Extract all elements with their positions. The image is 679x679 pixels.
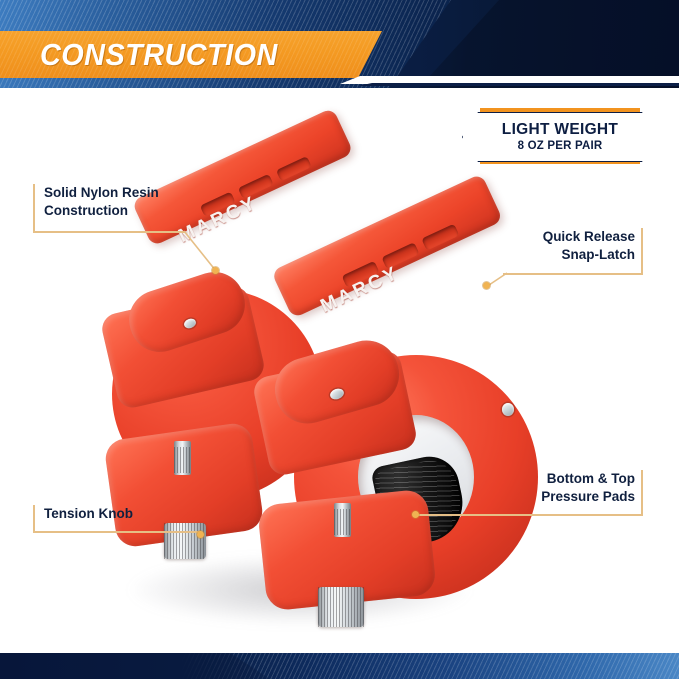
callout-quick-release-snap-latch: Quick Release Snap-Latch	[470, 228, 635, 264]
footer-banner	[0, 653, 679, 679]
leader-stub-pressure-pads	[641, 470, 643, 515]
leader-stub-tension-knob	[33, 505, 35, 532]
leader-dot-solid-nylon-resin	[212, 267, 219, 274]
leader-stub-quick-release	[641, 228, 643, 274]
collar-front: MARCY	[248, 247, 558, 667]
callout-solid-nylon-resin-line2: Construction	[44, 202, 159, 220]
collar-front-screw-ribs	[334, 509, 351, 535]
leader-dot-pressure-pads	[412, 511, 419, 518]
leader-stub-solid-nylon-resin	[33, 184, 35, 232]
callout-solid-nylon-resin: Solid Nylon Resin Construction	[33, 184, 159, 220]
badge-title: LIGHT WEIGHT	[462, 121, 658, 139]
collar-front-lever-slot-3	[421, 224, 459, 251]
leader-line-quick-release	[503, 273, 643, 275]
collar-back-screw-ribs	[174, 447, 191, 473]
badge-subtitle: 8 OZ PER PAIR	[462, 140, 658, 152]
leader-dot-quick-release	[483, 282, 490, 289]
callout-pressure-pads-line1: Bottom & Top	[470, 470, 635, 488]
page-title: CONSTRUCTION	[40, 31, 278, 78]
leader-line-pressure-pads	[417, 514, 643, 516]
collar-front-knob-ribs	[318, 587, 364, 627]
callout-solid-nylon-resin-line1: Solid Nylon Resin	[44, 184, 159, 202]
collar-back-lever-slot-3	[276, 156, 312, 181]
callout-tension-knob: Tension Knob	[33, 505, 133, 523]
callout-tension-knob-label: Tension Knob	[44, 505, 133, 523]
collar-front-side-rivet	[502, 403, 514, 416]
header-white-gap	[340, 76, 679, 84]
leader-dot-tension-knob	[197, 531, 204, 538]
collar-back-knob-ribs	[164, 523, 206, 559]
callout-quick-release-line2: Snap-Latch	[470, 246, 635, 264]
leader-line-tension-knob	[33, 531, 201, 533]
light-weight-badge: LIGHT WEIGHT 8 OZ PER PAIR	[462, 108, 658, 164]
callout-quick-release-line1: Quick Release	[470, 228, 635, 246]
header-banner: CONSTRUCTION	[0, 0, 679, 88]
callout-bottom-top-pressure-pads: Bottom & Top Pressure Pads	[470, 470, 635, 506]
infographic-page: CONSTRUCTION LIGHT WEIGHT 8 OZ PER PAIR …	[0, 0, 679, 679]
header-underline-rule	[358, 83, 679, 86]
collar-back-lever	[131, 108, 353, 247]
callout-pressure-pads-line2: Pressure Pads	[470, 488, 635, 506]
leader-line-solid-nylon-resin	[33, 231, 185, 233]
